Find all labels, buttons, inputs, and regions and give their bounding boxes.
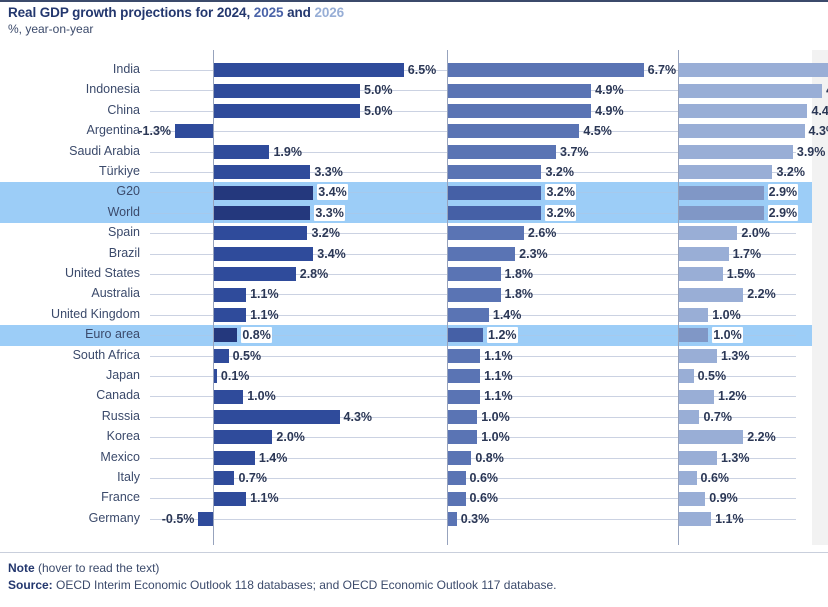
bar-value-label: 0.6% — [701, 470, 730, 486]
bar-2024-spain[interactable] — [214, 226, 307, 240]
bar-value-label: 0.9% — [709, 490, 738, 506]
bar-2025-russia[interactable] — [448, 410, 477, 424]
bar-value-label: 1.9% — [273, 144, 302, 160]
note-line: Note (hover to read the text) — [8, 560, 820, 577]
bar-value-label: -0.5% — [162, 511, 195, 527]
bar-value-label: 3.3% — [314, 164, 343, 180]
bar-value-label: 1.8% — [505, 286, 534, 302]
bar-2026-argentina[interactable] — [679, 124, 805, 138]
bar-value-label: 0.3% — [461, 511, 490, 527]
category-label: Brazil — [0, 246, 140, 260]
bar-2026-world[interactable] — [679, 206, 764, 220]
bar-2025-saudi-arabia[interactable] — [448, 145, 556, 159]
category-label: Indonesia — [0, 82, 140, 96]
title-prefix: Real GDP growth projections for — [8, 5, 217, 20]
bar-value-label: 3.2% — [545, 164, 574, 180]
bar-value-label: 1.0% — [712, 307, 741, 323]
category-label: Spain — [0, 225, 140, 239]
bar-2026-australia[interactable] — [679, 288, 743, 302]
table-row[interactable]: Japan0.1%1.1%0.5% — [0, 366, 812, 386]
category-label: Germany — [0, 511, 140, 525]
table-row[interactable]: Indonesia5.0%4.9%4.9% — [0, 80, 812, 100]
bar-2026-spain[interactable] — [679, 226, 737, 240]
bar-value-label: 5.0% — [364, 103, 393, 119]
category-label: G20 — [0, 184, 140, 198]
bar-value-label: 1.7% — [733, 246, 762, 262]
bar-2024-canada[interactable] — [214, 390, 243, 404]
bar-2026-indonesia[interactable] — [679, 84, 822, 98]
source-text: OECD Interim Economic Outlook 118 databa… — [53, 578, 557, 592]
bar-2024-united-states[interactable] — [214, 267, 296, 281]
bar-value-label: 3.7% — [560, 144, 589, 160]
bar-value-label: 2.2% — [747, 429, 776, 445]
bar-value-label: 3.3% — [314, 205, 345, 221]
table-row[interactable]: Italy0.7%0.6%0.6% — [0, 468, 812, 488]
source-label: Source: — [8, 578, 53, 592]
bar-2026-france[interactable] — [679, 492, 705, 506]
bar-2024-mexico[interactable] — [214, 451, 255, 465]
title-year-2026: 2026 — [314, 5, 344, 20]
bar-value-label: 4.5% — [583, 123, 612, 139]
bar-2026-united-states[interactable] — [679, 267, 723, 281]
bar-value-label: 1.4% — [259, 450, 288, 466]
bar-value-label: 1.1% — [715, 511, 744, 527]
bar-value-label: 1.1% — [250, 490, 279, 506]
category-label: South Africa — [0, 348, 140, 362]
bar-2025-world[interactable] — [448, 206, 541, 220]
page-title: Real GDP growth projections for 2024, 20… — [8, 5, 820, 20]
title-separator-1: , — [246, 5, 253, 20]
bar-value-label: 0.6% — [470, 490, 499, 506]
bar-2025-china[interactable] — [448, 104, 591, 118]
bar-2024-euro-area[interactable] — [214, 328, 237, 342]
bar-2025-india[interactable] — [448, 63, 644, 77]
bar-value-label: 6.5% — [408, 62, 437, 78]
bar-value-label: 2.3% — [519, 246, 548, 262]
bar-2025-t-rkiye[interactable] — [448, 165, 541, 179]
bar-2024-indonesia[interactable] — [214, 84, 360, 98]
category-label: France — [0, 490, 140, 504]
bar-2026-germany[interactable] — [679, 512, 711, 526]
bar-2026-t-rkiye[interactable] — [679, 165, 772, 179]
bar-value-label: 4.3% — [809, 123, 828, 139]
category-label: Russia — [0, 409, 140, 423]
zero-axis-2026 — [678, 50, 679, 545]
category-label: Canada — [0, 388, 140, 402]
category-label: Euro area — [0, 327, 140, 341]
bar-2024-south-africa[interactable] — [214, 349, 229, 363]
bar-value-label: 0.5% — [233, 348, 262, 364]
table-row[interactable]: Korea2.0%1.0%2.2% — [0, 427, 812, 447]
bar-2025-spain[interactable] — [448, 226, 524, 240]
bar-value-label: 0.7% — [238, 470, 267, 486]
chart-plot-area: India6.5%6.7%6.2%Indonesia5.0%4.9%4.9%Ch… — [0, 50, 828, 545]
bar-value-label: 1.0% — [481, 429, 510, 445]
bar-2026-japan[interactable] — [679, 369, 694, 383]
bar-2026-korea[interactable] — [679, 430, 743, 444]
table-row[interactable]: France1.1%0.6%0.9% — [0, 488, 812, 508]
bar-2024-japan[interactable] — [214, 369, 217, 383]
table-row[interactable]: United Kingdom1.1%1.4%1.0% — [0, 305, 812, 325]
bar-value-label: 1.1% — [484, 368, 513, 384]
table-row[interactable]: India6.5%6.7%6.2% — [0, 60, 812, 80]
chart-header: Real GDP growth projections for 2024, 20… — [8, 5, 820, 36]
bar-2024-france[interactable] — [214, 492, 246, 506]
bar-value-label: 1.0% — [712, 327, 743, 343]
bar-value-label: 2.8% — [300, 266, 329, 282]
bar-value-label: 1.2% — [718, 388, 747, 404]
bar-value-label: 0.8% — [241, 327, 272, 343]
bar-value-label: 0.5% — [698, 368, 727, 384]
bar-value-label: 1.3% — [721, 450, 750, 466]
table-row[interactable]: Euro area0.8%1.2%1.0% — [0, 325, 812, 345]
bar-value-label: 2.6% — [528, 225, 557, 241]
category-label: Argentina — [0, 123, 140, 137]
category-label: United States — [0, 266, 140, 280]
bar-2026-south-africa[interactable] — [679, 349, 717, 363]
bar-2024-italy[interactable] — [214, 471, 234, 485]
bar-2026-euro-area[interactable] — [679, 328, 708, 342]
zero-axis-2024 — [213, 50, 214, 545]
bar-value-label: 2.0% — [276, 429, 305, 445]
bar-value-label: 5.0% — [364, 82, 393, 98]
table-row[interactable]: Argentina-1.3%4.5%4.3% — [0, 121, 812, 141]
category-label: Mexico — [0, 450, 140, 464]
bar-2025-brazil[interactable] — [448, 247, 515, 261]
bar-value-label: 4.3% — [344, 409, 373, 425]
bar-2025-france[interactable] — [448, 492, 466, 506]
bar-2025-g20[interactable] — [448, 186, 541, 200]
table-row[interactable]: World3.3%3.2%2.9% — [0, 203, 812, 223]
bar-2026-brazil[interactable] — [679, 247, 729, 261]
bar-2026-mexico[interactable] — [679, 451, 717, 465]
bar-value-label: 1.0% — [247, 388, 276, 404]
bar-value-label: 0.1% — [221, 368, 250, 384]
bar-value-label: 4.9% — [595, 82, 624, 98]
bar-2025-united-kingdom[interactable] — [448, 308, 489, 322]
bar-value-label: 1.4% — [493, 307, 522, 323]
table-row[interactable]: Russia4.3%1.0%0.7% — [0, 407, 812, 427]
bar-value-label: 6.7% — [648, 62, 677, 78]
category-label: Australia — [0, 286, 140, 300]
bar-2024-india[interactable] — [214, 63, 404, 77]
bar-2026-g20[interactable] — [679, 186, 764, 200]
chart-footer: Note (hover to read the text) Source: OE… — [8, 560, 820, 594]
bar-2026-italy[interactable] — [679, 471, 697, 485]
bar-value-label: 3.2% — [545, 184, 576, 200]
bar-value-label: 2.9% — [768, 184, 799, 200]
bar-value-label: 1.0% — [481, 409, 510, 425]
title-year-2025: 2025 — [254, 5, 284, 20]
bar-2024-korea[interactable] — [214, 430, 272, 444]
bar-2025-japan[interactable] — [448, 369, 480, 383]
table-row[interactable]: Mexico1.4%0.8%1.3% — [0, 448, 812, 468]
bar-value-label: 3.4% — [317, 246, 346, 262]
bar-value-label: 0.6% — [470, 470, 499, 486]
bar-value-label: 1.1% — [484, 388, 513, 404]
bar-2026-china[interactable] — [679, 104, 807, 118]
table-row[interactable]: Saudi Arabia1.9%3.7%3.9% — [0, 142, 812, 162]
bar-2025-germany[interactable] — [448, 512, 457, 526]
category-label: United Kingdom — [0, 307, 140, 321]
top-rule — [0, 0, 828, 2]
category-label: Türkiye — [0, 164, 140, 178]
bar-value-label: 2.9% — [768, 205, 799, 221]
table-row[interactable]: Türkiye3.3%3.2%3.2% — [0, 162, 812, 182]
note-label: Note — [8, 561, 35, 575]
bar-2024-t-rkiye[interactable] — [214, 165, 310, 179]
bar-2026-india[interactable] — [679, 63, 828, 77]
category-label: Korea — [0, 429, 140, 443]
bar-value-label: 4.4% — [811, 103, 828, 119]
bar-2026-united-kingdom[interactable] — [679, 308, 708, 322]
table-row[interactable]: Brazil3.4%2.3%1.7% — [0, 244, 812, 264]
chart-subtitle: %, year-on-year — [8, 22, 820, 36]
source-line: Source: OECD Interim Economic Outlook 11… — [8, 577, 820, 594]
bar-value-label: 3.2% — [545, 205, 576, 221]
category-label: China — [0, 103, 140, 117]
bar-2024-china[interactable] — [214, 104, 360, 118]
category-label: Japan — [0, 368, 140, 382]
bar-value-label: 2.0% — [741, 225, 770, 241]
table-row[interactable]: G203.4%3.2%2.9% — [0, 182, 812, 202]
table-row[interactable]: Canada1.0%1.1%1.2% — [0, 386, 812, 406]
bar-2024-brazil[interactable] — [214, 247, 313, 261]
bar-value-label: 0.7% — [703, 409, 732, 425]
bar-2025-italy[interactable] — [448, 471, 466, 485]
table-row[interactable]: Spain3.2%2.6%2.0% — [0, 223, 812, 243]
bottom-rule — [0, 552, 828, 553]
category-label: India — [0, 62, 140, 76]
category-label: Italy — [0, 470, 140, 484]
bar-2025-mexico[interactable] — [448, 451, 471, 465]
bar-value-label: 1.3% — [721, 348, 750, 364]
bar-2024-australia[interactable] — [214, 288, 246, 302]
bar-value-label: 1.2% — [487, 327, 518, 343]
bar-value-label: 1.5% — [727, 266, 756, 282]
bar-2024-russia[interactable] — [214, 410, 340, 424]
bar-value-label: 0.8% — [475, 450, 504, 466]
table-row[interactable]: South Africa0.5%1.1%1.3% — [0, 346, 812, 366]
bar-value-label: 1.8% — [505, 266, 534, 282]
bar-value-label: 1.1% — [250, 286, 279, 302]
bar-value-label: 1.1% — [484, 348, 513, 364]
bar-2025-south-africa[interactable] — [448, 349, 480, 363]
bar-value-label: -1.3% — [138, 123, 171, 139]
bar-2026-saudi-arabia[interactable] — [679, 145, 793, 159]
table-row[interactable]: Germany-0.5%0.3%1.1% — [0, 509, 812, 529]
bar-value-label: 4.9% — [595, 103, 624, 119]
bar-value-label: 2.2% — [747, 286, 776, 302]
note-text[interactable]: (hover to read the text) — [35, 561, 160, 575]
bar-value-label: 3.9% — [797, 144, 826, 160]
bar-value-label: 3.4% — [317, 184, 348, 200]
bar-value-label: 3.2% — [776, 164, 805, 180]
bar-2024-world[interactable] — [214, 206, 310, 220]
table-row[interactable]: China5.0%4.9%4.4% — [0, 101, 812, 121]
category-label: Saudi Arabia — [0, 144, 140, 158]
bar-2024-germany[interactable] — [198, 512, 213, 526]
bar-2025-canada[interactable] — [448, 390, 480, 404]
bar-2025-argentina[interactable] — [448, 124, 579, 138]
bar-value-label: 3.2% — [311, 225, 340, 241]
bar-2026-canada[interactable] — [679, 390, 714, 404]
table-row[interactable]: Australia1.1%1.8%2.2% — [0, 284, 812, 304]
bar-value-label: 1.1% — [250, 307, 279, 323]
bar-2025-indonesia[interactable] — [448, 84, 591, 98]
table-row[interactable]: United States2.8%1.8%1.5% — [0, 264, 812, 284]
title-year-2024: 2024 — [217, 5, 247, 20]
bar-2025-australia[interactable] — [448, 288, 501, 302]
bar-2024-saudi-arabia[interactable] — [214, 145, 269, 159]
category-label: World — [0, 205, 140, 219]
bar-2026-russia[interactable] — [679, 410, 699, 424]
zero-axis-2025 — [447, 50, 448, 545]
bar-2025-korea[interactable] — [448, 430, 477, 444]
title-separator-2: and — [283, 5, 314, 20]
bar-2024-united-kingdom[interactable] — [214, 308, 246, 322]
bar-2025-united-states[interactable] — [448, 267, 501, 281]
bar-2024-g20[interactable] — [214, 186, 313, 200]
bar-2025-euro-area[interactable] — [448, 328, 483, 342]
bar-2024-argentina[interactable] — [175, 124, 213, 138]
